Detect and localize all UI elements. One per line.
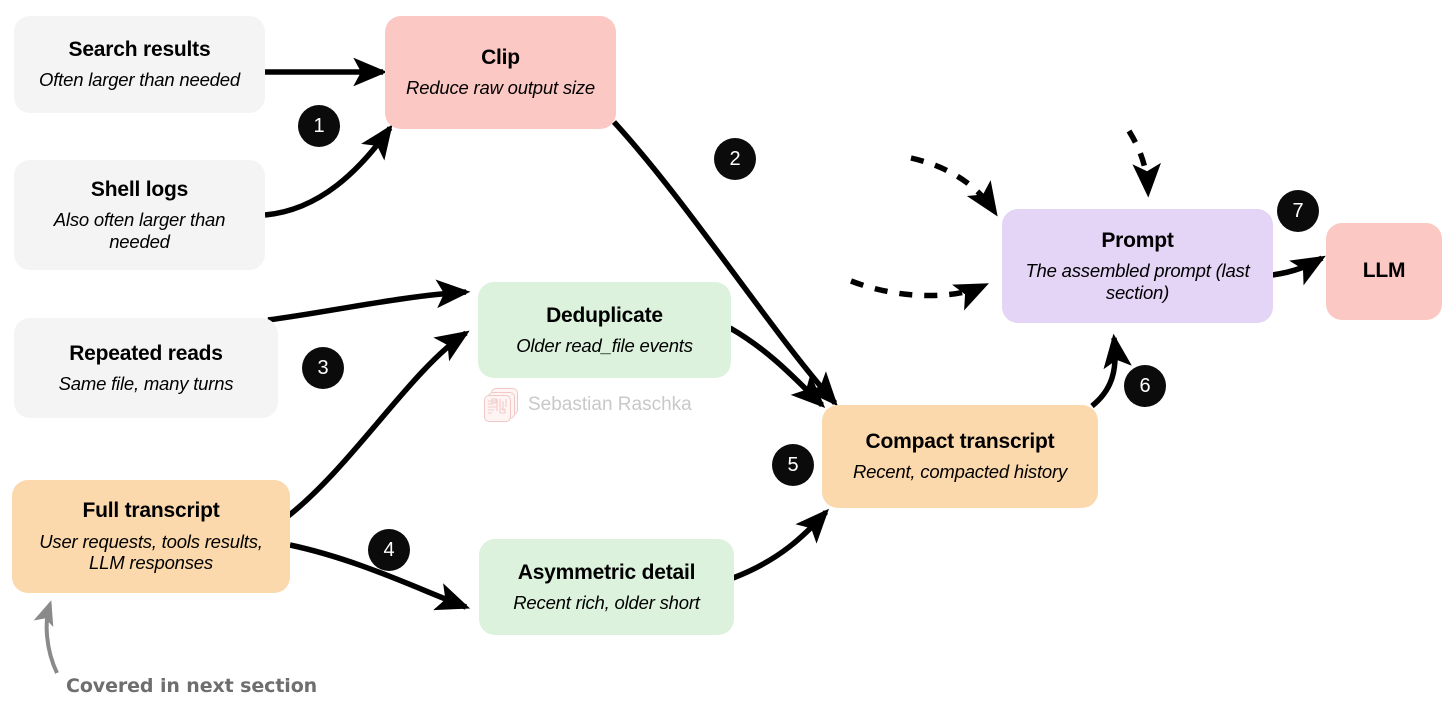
edge-prompt-to-llm bbox=[1272, 258, 1322, 275]
node-subtitle: Also often larger than needed bbox=[26, 209, 253, 252]
edge-asymmetric-detail-to-compact-transcript bbox=[733, 512, 826, 578]
step-badge-label: 5 bbox=[787, 454, 798, 477]
node-title: Deduplicate bbox=[546, 304, 663, 328]
node-title: Prompt bbox=[1101, 229, 1173, 253]
node-shell-logs[interactable]: Shell logs Also often larger than needed bbox=[14, 160, 265, 270]
edge-deduplicate-to-compact-transcript bbox=[730, 328, 822, 405]
step-badge-label: 4 bbox=[383, 539, 394, 562]
node-subtitle: Recent rich, older short bbox=[513, 592, 699, 613]
diagram-canvas: Search results Often larger than needed … bbox=[0, 0, 1456, 708]
node-llm[interactable]: LLM bbox=[1326, 223, 1442, 320]
node-full-transcript[interactable]: Full transcript User requests, tools res… bbox=[12, 480, 290, 593]
step-badge-2: 2 bbox=[714, 138, 756, 180]
step-badge-5: 5 bbox=[772, 444, 814, 486]
node-clip[interactable]: Clip Reduce raw output size bbox=[385, 16, 616, 129]
step-badge-label: 3 bbox=[317, 357, 328, 380]
node-subtitle: Often larger than needed bbox=[39, 69, 240, 90]
step-badge-label: 1 bbox=[313, 115, 324, 138]
step-badge-6: 6 bbox=[1124, 365, 1166, 407]
edge-dashed-into-prompt-top bbox=[1129, 131, 1148, 191]
node-title: LLM bbox=[1363, 259, 1406, 283]
step-badge-7: 7 bbox=[1277, 190, 1319, 232]
watermark-logo-icon bbox=[484, 388, 518, 422]
node-compact-transcript[interactable]: Compact transcript Recent, compacted his… bbox=[822, 405, 1098, 508]
edge-repeated-reads-to-deduplicate bbox=[268, 292, 466, 320]
node-subtitle: Recent, compacted history bbox=[853, 461, 1067, 482]
step-badge-4: 4 bbox=[368, 529, 410, 571]
node-asymmetric-detail[interactable]: Asymmetric detail Recent rich, older sho… bbox=[479, 539, 734, 635]
edge-annotation-to-full-transcript bbox=[47, 604, 57, 673]
edge-dashed-into-prompt-left bbox=[851, 281, 983, 296]
edge-dashed-into-prompt-topleft bbox=[911, 158, 994, 211]
node-title: Repeated reads bbox=[69, 342, 223, 366]
node-prompt[interactable]: Prompt The assembled prompt (last sectio… bbox=[1002, 209, 1273, 323]
node-subtitle: Same file, many turns bbox=[59, 373, 234, 394]
step-badge-label: 7 bbox=[1292, 200, 1303, 223]
step-badge-3: 3 bbox=[302, 347, 344, 389]
node-title: Asymmetric detail bbox=[518, 561, 696, 585]
node-title: Clip bbox=[481, 46, 520, 70]
watermark: Sebastian Raschka bbox=[484, 388, 692, 422]
node-title: Full transcript bbox=[82, 499, 219, 523]
node-repeated-reads[interactable]: Repeated reads Same file, many turns bbox=[14, 318, 278, 418]
node-subtitle: User requests, tools results, LLM respon… bbox=[24, 531, 278, 574]
step-badge-1: 1 bbox=[298, 105, 340, 147]
node-search-results[interactable]: Search results Often larger than needed bbox=[14, 16, 265, 113]
node-title: Shell logs bbox=[91, 178, 188, 202]
watermark-text: Sebastian Raschka bbox=[528, 394, 692, 416]
annotation-covered-next-section: Covered in next section bbox=[66, 675, 317, 697]
node-subtitle: The assembled prompt (last section) bbox=[1014, 260, 1261, 303]
node-subtitle: Older read_file events bbox=[516, 335, 693, 356]
step-badge-label: 2 bbox=[729, 148, 740, 171]
step-badge-label: 6 bbox=[1139, 375, 1150, 398]
node-title: Compact transcript bbox=[866, 430, 1055, 454]
node-subtitle: Reduce raw output size bbox=[406, 77, 595, 98]
edge-compact-transcript-to-prompt bbox=[1092, 338, 1115, 406]
node-title: Search results bbox=[69, 38, 211, 62]
node-deduplicate[interactable]: Deduplicate Older read_file events bbox=[478, 282, 731, 378]
